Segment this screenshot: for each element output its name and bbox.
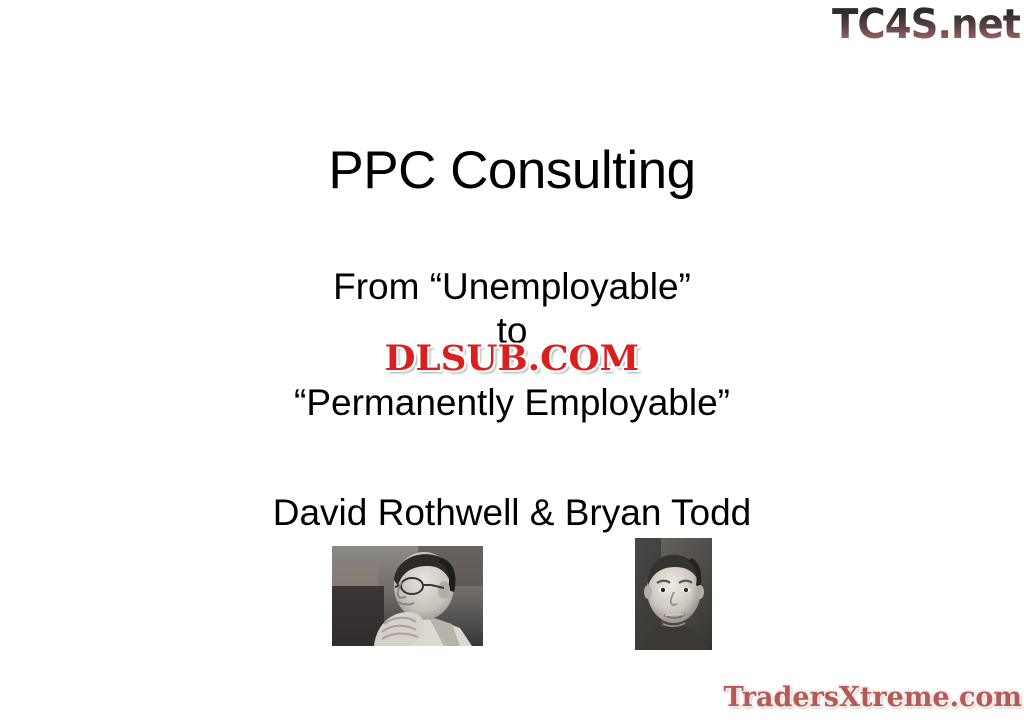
tradersxtreme-watermark-text: TradersXtreme.com xyxy=(724,682,1022,713)
presentation-slide: TC4S.net PPC Consulting From “Unemployab… xyxy=(0,0,1024,724)
subtitle-line-to: to xyxy=(0,309,1024,353)
tradersxtreme-watermark: TradersXtreme.com xyxy=(724,683,1022,713)
presenter-names: David Rothwell & Bryan Todd xyxy=(0,491,1024,535)
subtitle-line-permanently-employable: “Permanently Employable” xyxy=(0,381,1024,425)
slide-title: PPC Consulting xyxy=(0,141,1024,201)
photo-todd-graphic xyxy=(635,538,712,650)
presenter-photo-david-rothwell xyxy=(332,546,483,646)
subtitle-line-from: From “Unemployable” xyxy=(0,265,1024,309)
presenter-photo-bryan-todd xyxy=(635,538,712,650)
tc4s-site-logo: TC4S.net xyxy=(832,2,1020,46)
photo-rothwell-graphic xyxy=(332,546,483,646)
